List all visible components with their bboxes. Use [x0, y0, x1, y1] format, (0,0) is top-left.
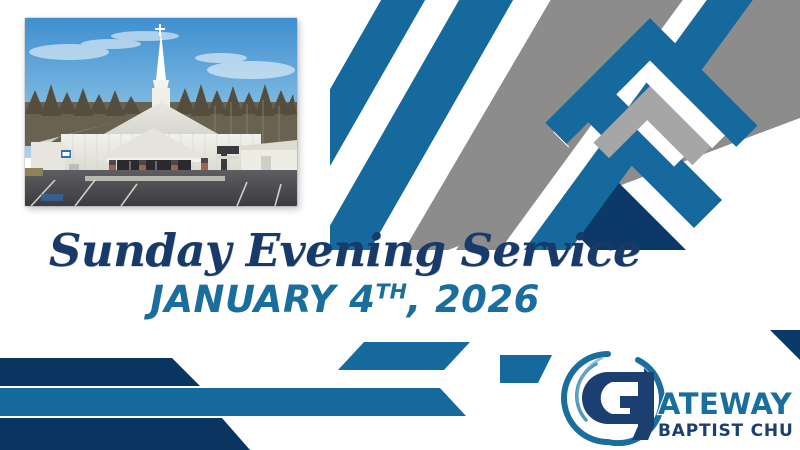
- angled-band-pattern: [0, 340, 520, 450]
- service-date: JANUARY 4TH, 2026: [0, 281, 690, 318]
- date-day: 4: [349, 278, 375, 321]
- logo-line-2: BAPTIST CHURCH: [658, 421, 792, 441]
- church-building-photo: [25, 18, 297, 206]
- gateway-baptist-church-logo: ATEWAY BAPTIST CHURCH: [552, 348, 792, 446]
- date-month: JANUARY: [150, 278, 336, 321]
- headline-block: Sunday Evening Service JANUARY 4TH, 2026: [0, 228, 690, 318]
- date-ordinal: TH: [376, 280, 407, 304]
- date-separator: ,: [407, 278, 422, 321]
- logo-accent-bar: [500, 355, 560, 383]
- logo-monogram-g: [582, 368, 654, 440]
- diagonal-stripe-pattern: [330, 0, 800, 250]
- logo-line-1: ATEWAY: [658, 387, 792, 421]
- date-year: 2026: [435, 278, 540, 321]
- slide-canvas: Sunday Evening Service JANUARY 4TH, 2026…: [0, 0, 800, 450]
- church-photo-image: [25, 18, 297, 206]
- page-title: Sunday Evening Service: [0, 228, 690, 273]
